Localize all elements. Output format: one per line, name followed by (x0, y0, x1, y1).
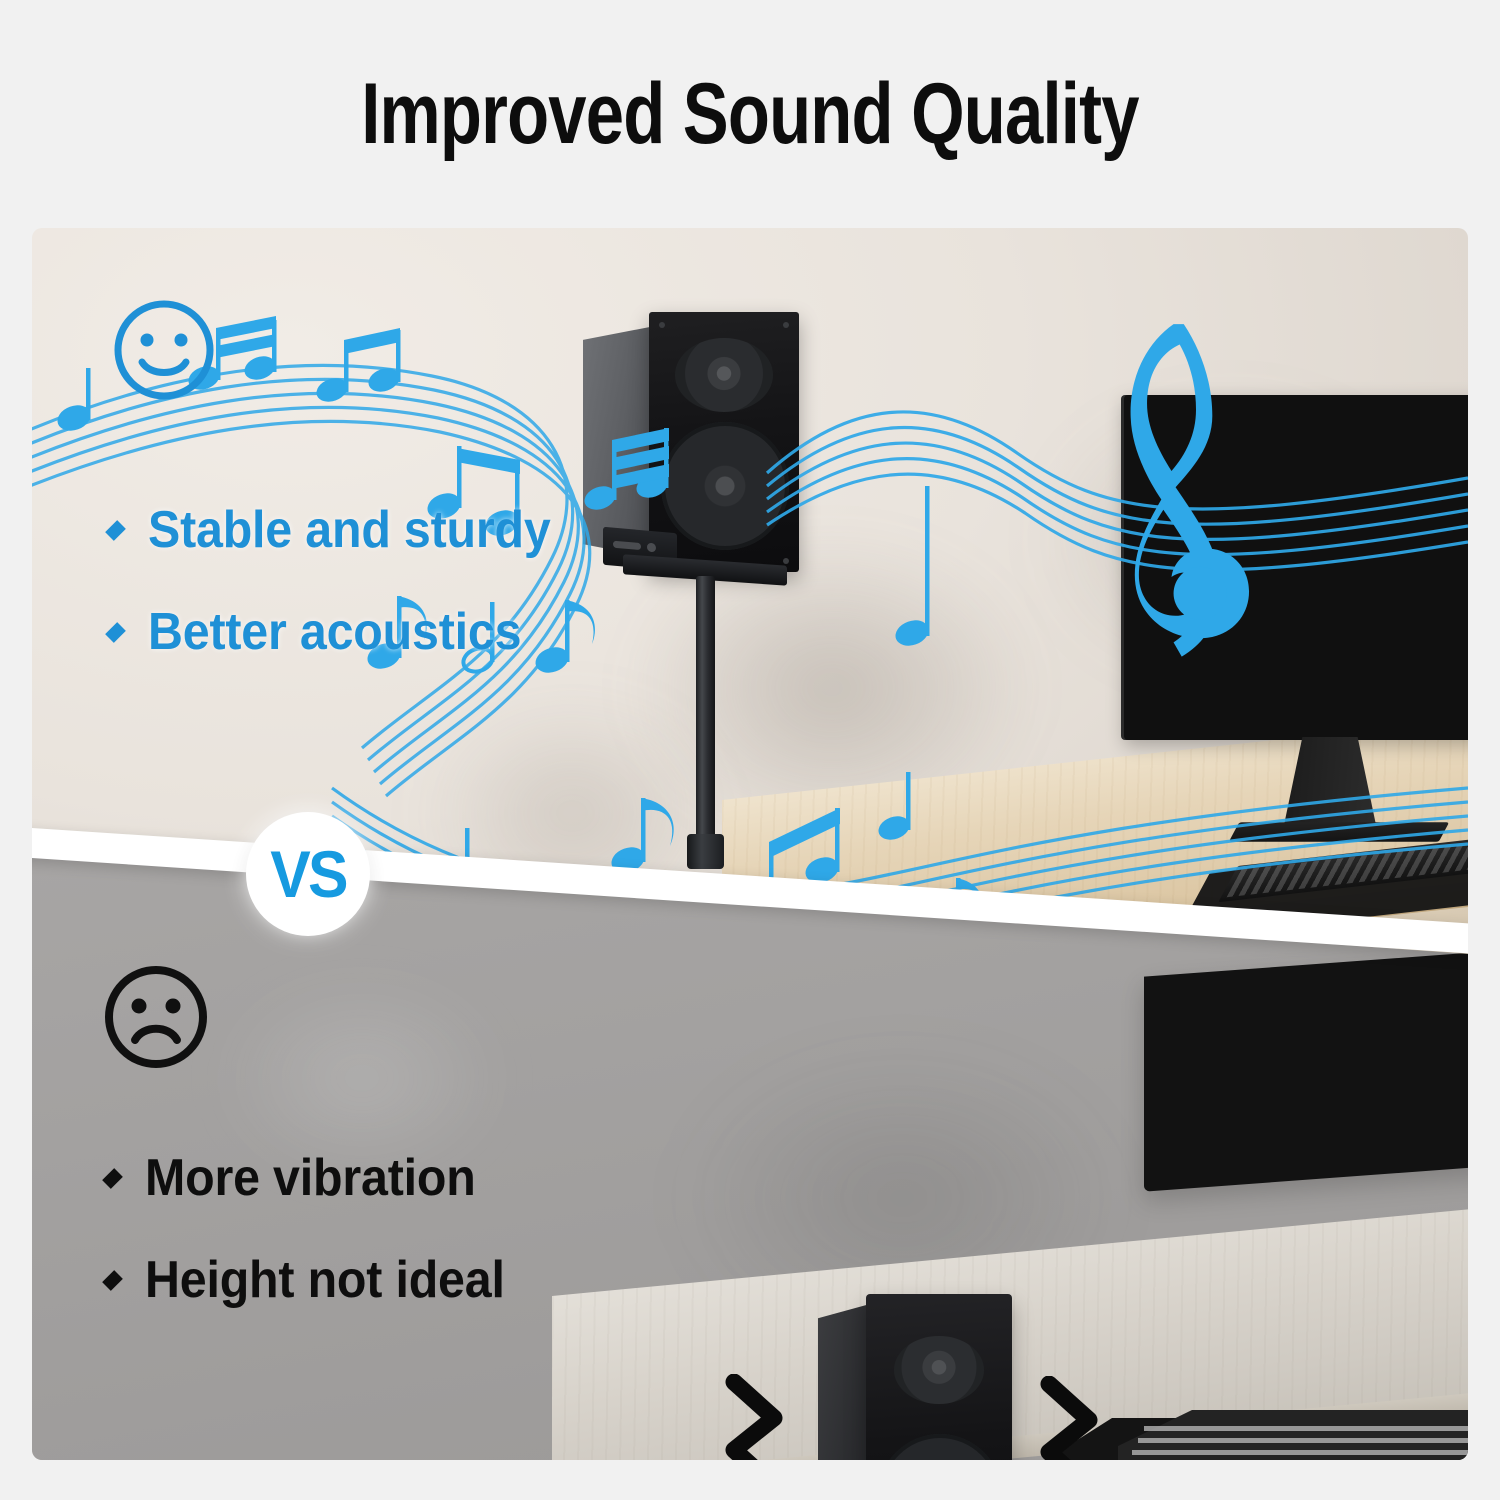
list-item: Better acoustics (107, 602, 581, 662)
diamond-bullet-icon (102, 1168, 123, 1189)
vs-label: VS (270, 836, 345, 912)
vs-badge: VS (246, 812, 370, 936)
bad-bullet-label: Height not ideal (145, 1250, 505, 1310)
overlay-layer: Stable and sturdy Better acoustics More … (32, 228, 1468, 1460)
smiley-face-icon (110, 296, 218, 404)
list-item: More vibration (104, 1148, 532, 1208)
page-title: Improved Sound Quality (361, 65, 1139, 164)
list-item: Height not ideal (104, 1250, 532, 1310)
list-item: Stable and sturdy (107, 500, 581, 560)
page-title-bar: Improved Sound Quality (0, 0, 1500, 228)
good-bullet-label: Stable and sturdy (148, 500, 551, 560)
diamond-bullet-icon (102, 1270, 123, 1291)
diamond-bullet-icon (105, 520, 126, 541)
bad-bullet-label: More vibration (145, 1148, 476, 1208)
diamond-bullet-icon (105, 622, 126, 643)
bad-feature-list: More vibration Height not ideal (104, 1148, 532, 1352)
sad-face-icon (100, 961, 212, 1073)
comparison-image-panel: Stable and sturdy Better acoustics More … (32, 228, 1468, 1460)
good-feature-list: Stable and sturdy Better acoustics (107, 500, 581, 704)
good-bullet-label: Better acoustics (148, 602, 521, 662)
